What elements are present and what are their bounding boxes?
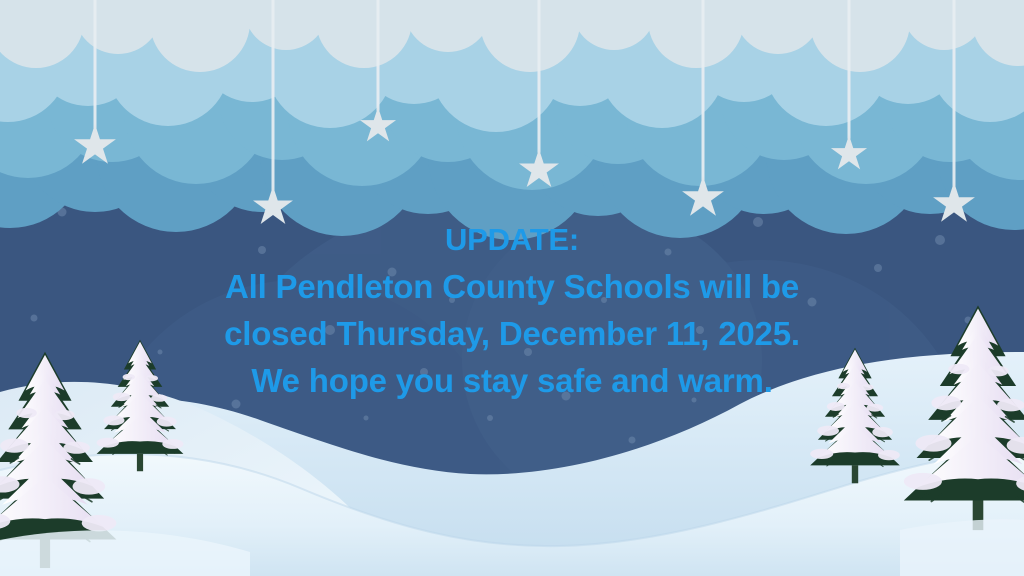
winter-announcement-graphic: UPDATE: All Pendleton County Schools wil… [0, 0, 1024, 576]
winter-scene-illustration [0, 0, 1024, 576]
snow-foreground-lip-right [900, 519, 1024, 576]
